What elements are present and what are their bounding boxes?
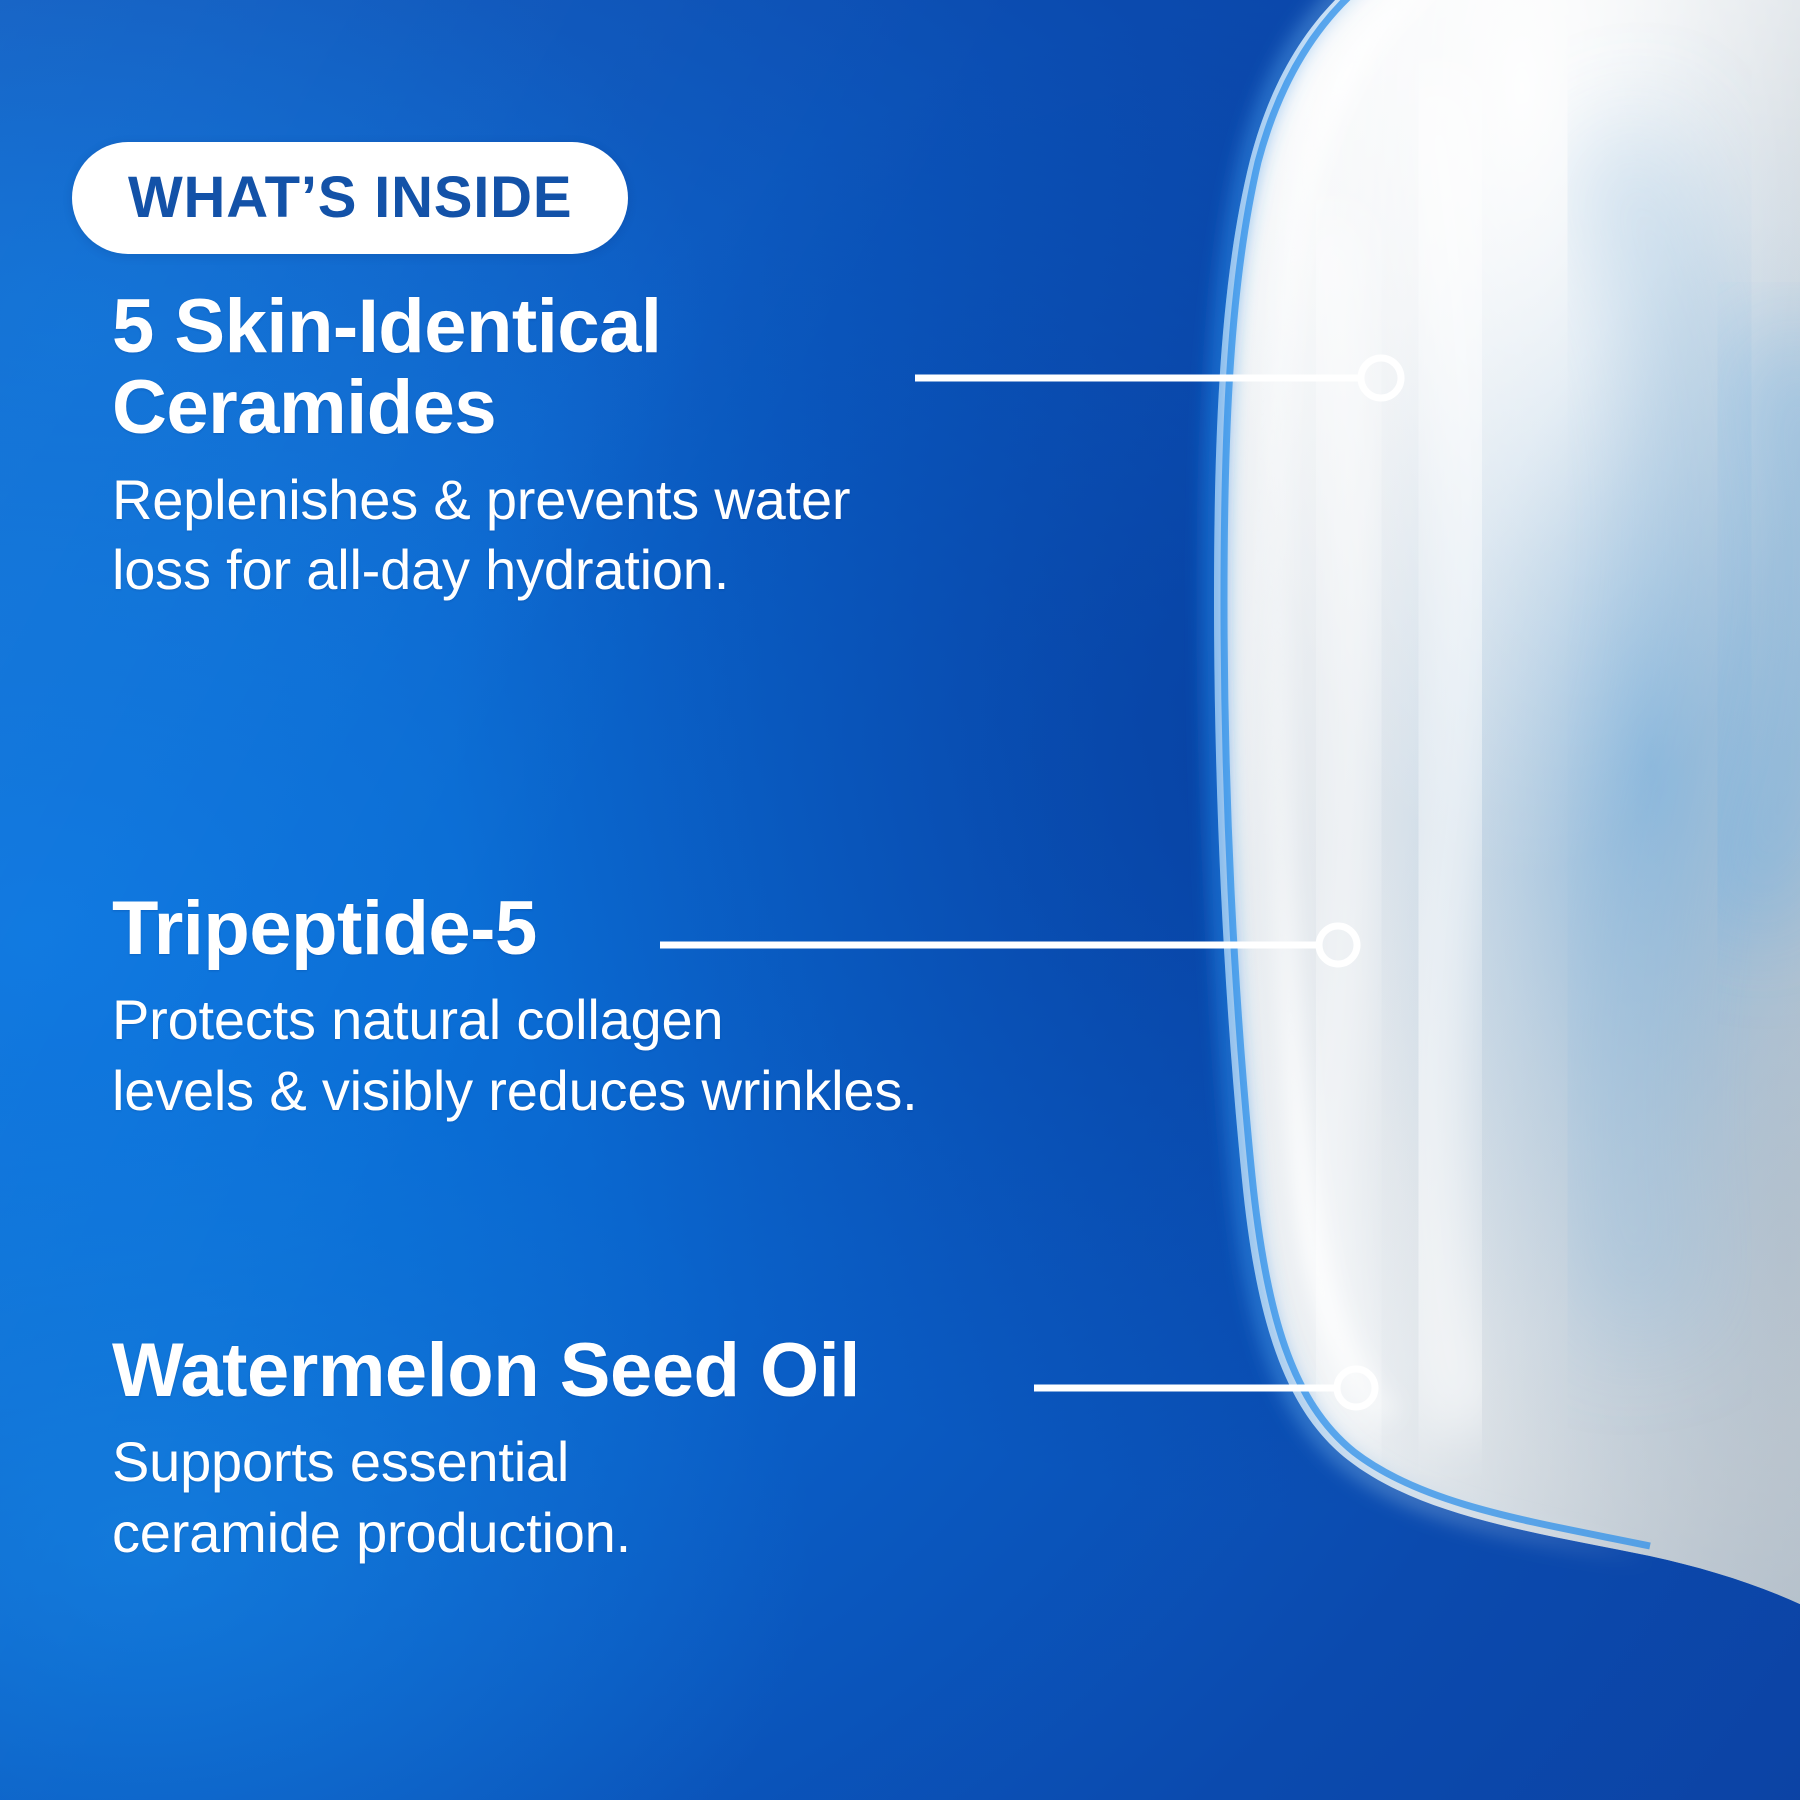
feature-title: Tripeptide-5 xyxy=(112,888,917,969)
feature-block-watermelon-seed-oil: Watermelon Seed Oil Supports essential c… xyxy=(112,1330,860,1568)
feature-description: Replenishes & prevents water loss for al… xyxy=(112,465,850,606)
feature-title: Watermelon Seed Oil xyxy=(112,1330,860,1411)
badge-label: WHAT’S INSIDE xyxy=(128,169,572,227)
infographic-canvas: WHAT’S INSIDE 5 Skin-Identical Ceramides… xyxy=(0,0,1800,1800)
feature-block-tripeptide-5: Tripeptide-5 Protects natural collagen l… xyxy=(112,888,917,1126)
feature-description: Supports essential ceramide production. xyxy=(112,1427,860,1568)
whats-inside-badge: WHAT’S INSIDE xyxy=(72,142,628,254)
feature-title: 5 Skin-Identical Ceramides xyxy=(112,286,850,449)
feature-description: Protects natural collagen levels & visib… xyxy=(112,985,917,1126)
feature-block-ceramides: 5 Skin-Identical Ceramides Replenishes &… xyxy=(112,286,850,606)
